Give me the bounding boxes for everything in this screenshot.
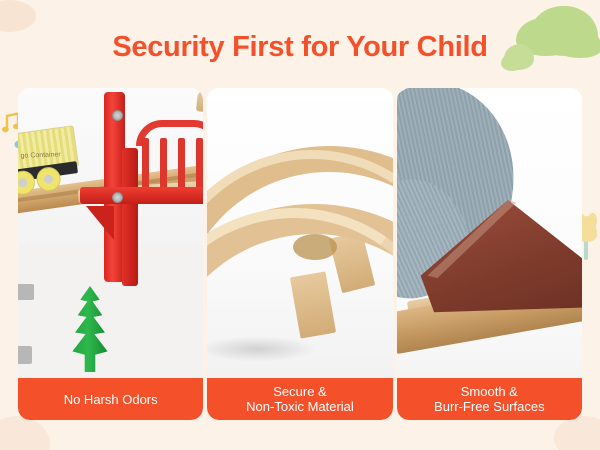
green-tree-toy <box>68 286 112 372</box>
caption-no-harsh-odors: No Harsh Odors <box>18 378 203 420</box>
page-title: Security First for Your Child <box>0 28 600 66</box>
caption-line: Non-Toxic Material <box>246 399 354 414</box>
arch-bar <box>142 138 149 194</box>
caption-line: Burr-Free Surfaces <box>434 399 545 414</box>
feature-card-secure-non-toxic[interactable]: Secure & Non-Toxic Material <box>207 88 392 420</box>
grey-block <box>18 284 34 300</box>
product-photo-curved-tracks <box>207 88 392 378</box>
caption-line: Smooth & <box>434 384 545 399</box>
product-photo-sanding <box>397 88 582 378</box>
arch-bar <box>178 138 185 194</box>
container-label: go Container <box>20 151 67 354</box>
feature-card-row: go Container No Harsh Odors <box>18 88 582 420</box>
caption-secure-non-toxic: Secure & Non-Toxic Material <box>207 378 392 420</box>
caption-line: Secure & <box>246 384 354 399</box>
feature-card-no-harsh-odors[interactable]: go Container No Harsh Odors <box>18 88 203 420</box>
screw-icon <box>112 110 123 121</box>
feature-card-smooth-burr-free[interactable]: Smooth & Burr-Free Surfaces <box>397 88 582 420</box>
red-bridge-post-secondary <box>122 148 138 286</box>
product-photo-train-set: go Container <box>18 88 203 378</box>
grey-block <box>18 346 32 364</box>
corner-blob-bottom-left-icon <box>0 416 50 450</box>
poster-canvas: Security First for Your Child <box>0 0 600 450</box>
tulip-stem <box>584 238 588 260</box>
screw-icon <box>112 192 123 203</box>
red-bridge-crossbar <box>80 187 203 204</box>
red-rail-arch <box>136 120 203 192</box>
arch-bar <box>160 138 167 194</box>
caption-smooth-burr-free: Smooth & Burr-Free Surfaces <box>397 378 582 420</box>
arch-bar <box>196 138 203 194</box>
caption-line: No Harsh Odors <box>64 392 158 407</box>
corner-blob-bottom-right-icon <box>554 416 600 450</box>
tree-body <box>68 286 112 372</box>
